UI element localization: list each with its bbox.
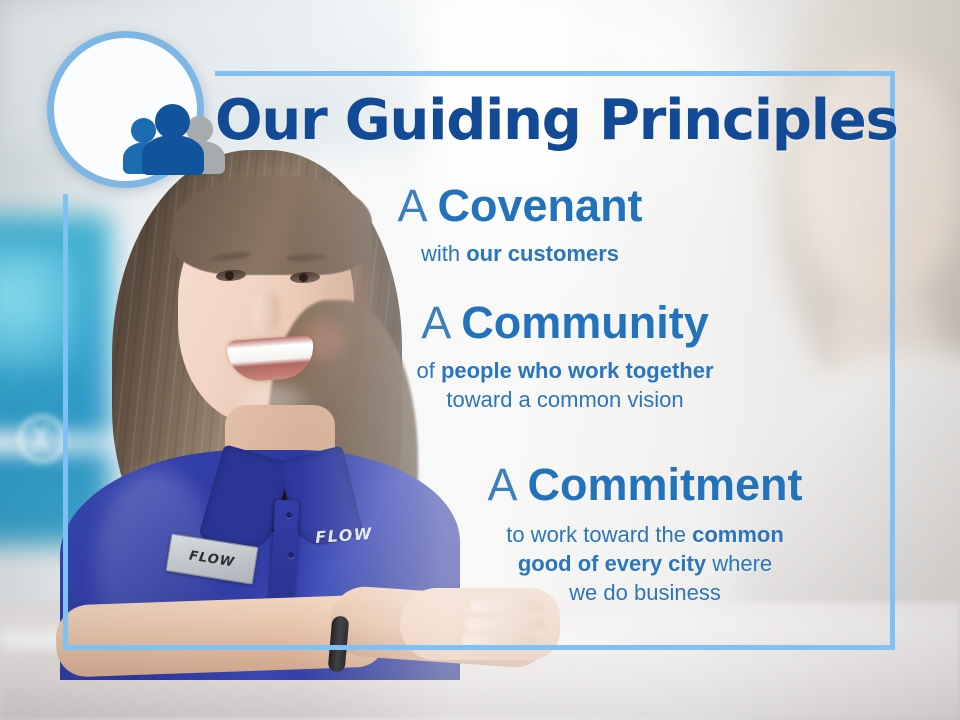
- person-center-head-icon: [155, 104, 190, 139]
- subtext-plain: where: [706, 551, 772, 576]
- principle-subtext-line: good of every city where: [420, 549, 870, 578]
- principle-word: Covenant: [438, 180, 643, 231]
- page-title: Our Guiding Principles: [215, 93, 865, 149]
- subtext-plain: with: [421, 241, 466, 266]
- subtext-emphasis: common: [692, 522, 784, 547]
- subtext-plain: we do business: [569, 580, 721, 605]
- principle-subtext-line: toward a common vision: [345, 385, 785, 414]
- principle-subtext: of people who work togethertoward a comm…: [345, 356, 785, 414]
- people-group-icon: [47, 31, 204, 188]
- principle-headline: A Community: [345, 300, 785, 346]
- people-glyph: [129, 104, 217, 172]
- principle-article: A: [421, 297, 449, 348]
- principle-subtext: to work toward the commongood of every c…: [420, 520, 870, 607]
- promo-graphic: FLOW FLOW Our Guiding Principles: [0, 0, 960, 720]
- subtext-emphasis: good of every city: [518, 551, 706, 576]
- subtext-plain: toward a common vision: [446, 387, 683, 412]
- principle-headline: A Covenant: [300, 183, 740, 229]
- subtext-emphasis: our customers: [466, 241, 619, 266]
- principle-community: A Community of people who work togethert…: [345, 300, 785, 414]
- subtext-plain: to work toward the: [506, 522, 692, 547]
- principle-article: A: [397, 180, 425, 231]
- principle-subtext-line: of people who work together: [345, 356, 785, 385]
- principle-word: Commitment: [528, 459, 803, 510]
- person-center-body-icon: [142, 135, 204, 175]
- principle-subtext-line: with our customers: [300, 239, 740, 268]
- principle-subtext-line: to work toward the common: [420, 520, 870, 549]
- principle-subtext: with our customers: [300, 239, 740, 268]
- principle-article: A: [487, 459, 515, 510]
- subtext-plain: of: [416, 358, 440, 383]
- principle-word: Community: [461, 297, 709, 348]
- principle-subtext-line: we do business: [420, 578, 870, 607]
- principle-headline: A Commitment: [420, 462, 870, 508]
- subtext-emphasis: people who work together: [441, 358, 714, 383]
- principle-covenant: A Covenant with our customers: [300, 183, 740, 268]
- principle-commitment: A Commitment to work toward the commongo…: [420, 462, 870, 607]
